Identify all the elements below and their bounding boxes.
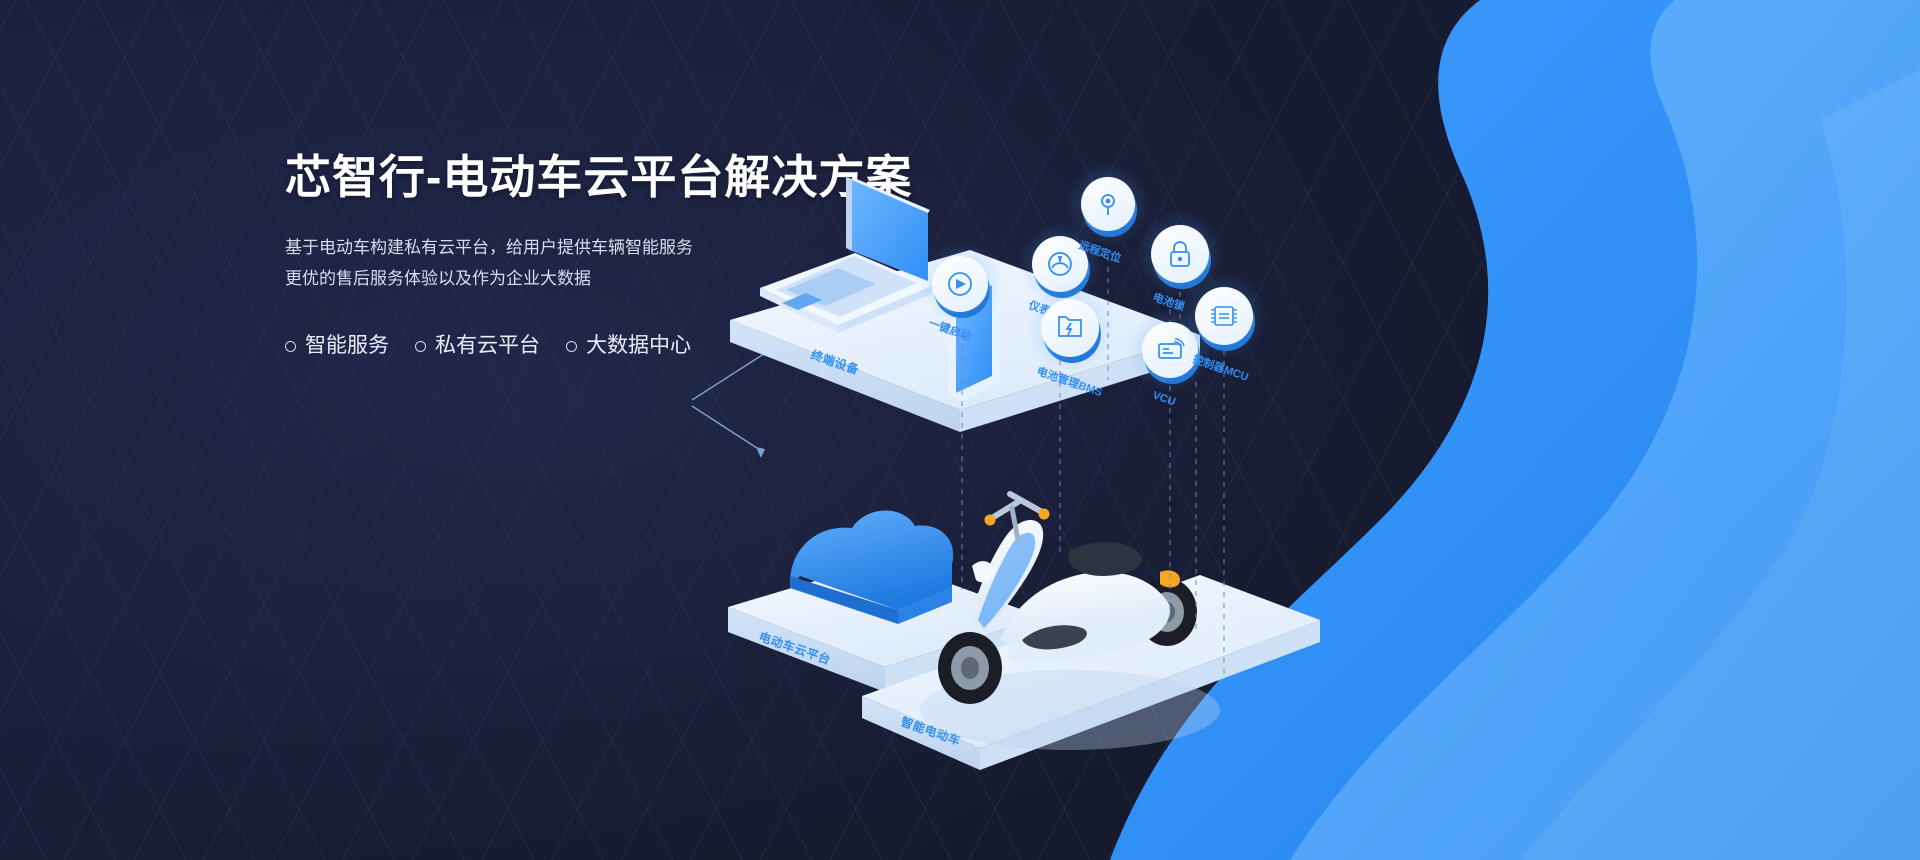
circle-outline-icon — [566, 341, 577, 352]
feature-item-private-cloud: 私有云平台 — [415, 334, 540, 358]
isometric-illustration: 终端设备 — [640, 120, 1920, 860]
front-wheel — [938, 632, 1002, 704]
feature-label: 私有云平台 — [435, 334, 540, 358]
feature-item-smart-service: 智能服务 — [285, 334, 389, 358]
circle-outline-icon — [415, 341, 426, 352]
circle-outline-icon — [285, 341, 296, 352]
subtitle-line-2: 更优的售后服务体验以及作为企业大数据 — [285, 269, 591, 288]
badge-label: VCU — [1151, 389, 1177, 408]
hero-banner: 芯智行-电动车云平台解决方案 基于电动车构建私有云平台，给用户提供车辆智能服务 … — [0, 0, 1920, 860]
subtitle-line-1: 基于电动车构建私有云平台，给用户提供车辆智能服务 — [285, 238, 693, 257]
feature-label: 智能服务 — [305, 334, 389, 358]
